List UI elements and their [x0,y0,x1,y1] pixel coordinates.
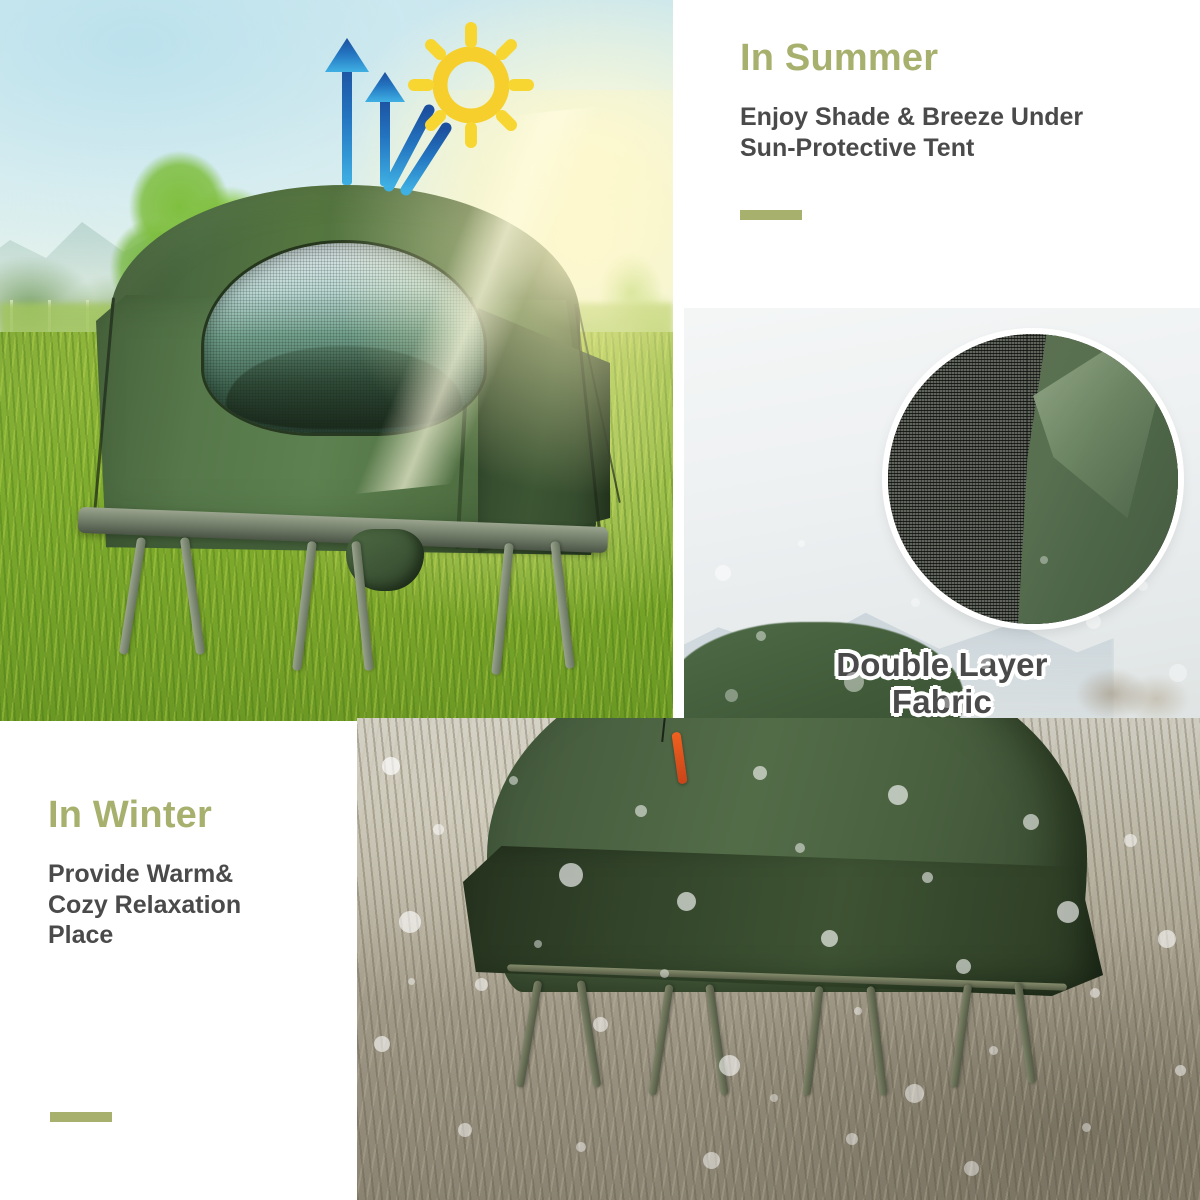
fabric-label: Double Layer Fabric [684,647,1200,720]
uv-arrow-up-left [325,38,369,185]
fabric-closeup-circle [888,334,1178,624]
summer-accent-dash [740,210,802,220]
cot-leg [180,537,205,655]
summer-headline: Enjoy Shade & Breeze Under Sun-Protectiv… [740,102,1180,164]
winter-headline-line1: Provide Warm& [48,859,338,890]
cot-leg [491,543,514,675]
winter-headline-line2: Cozy Relaxation [48,890,338,921]
fabric-detail-panel: Double Layer Fabric [684,308,1200,722]
marketing-canvas: In Summer Enjoy Shade & Breeze Under Sun… [0,0,1200,1200]
winter-accent-dash [50,1112,112,1122]
winter-headline-line3: Place [48,920,338,951]
fabric-label-line2: Fabric [684,684,1200,720]
winter-headline: Provide Warm& Cozy Relaxation Place [48,859,338,951]
summer-kicker: In Summer [740,38,1180,80]
mesh-window [204,243,484,433]
summer-text-block: In Summer Enjoy Shade & Breeze Under Sun… [740,38,1180,220]
cot-leg [550,541,575,669]
summer-tent-cot [58,185,618,685]
summer-headline-line2: Sun-Protective Tent [740,133,1180,164]
mesh-layer-left [888,334,1033,624]
winter-photo [357,718,1200,1200]
fabric-label-line1: Double Layer [684,647,1200,683]
uv-protection-icon [305,18,575,198]
cot-leg [292,541,317,671]
sun-icon [414,28,528,142]
rolled-mesh-flap [226,346,461,430]
summer-headline-line1: Enjoy Shade & Breeze Under [740,102,1180,133]
winter-text-block: In Winter Provide Warm& Cozy Relaxation … [48,795,338,951]
cot-leg [119,537,146,655]
uv-arrows-icon [305,18,575,198]
winter-kicker: In Winter [48,795,338,837]
